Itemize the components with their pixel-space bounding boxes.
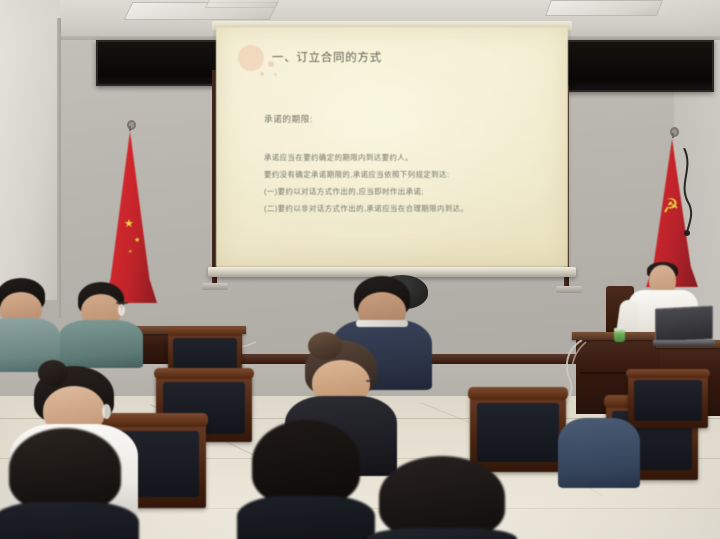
wall-panel-right [556,40,714,92]
hair-bun [308,332,342,360]
flag-star-icon: ★ [134,237,140,244]
face-mask-strap [118,304,125,316]
slide-body: 承诺应当在要约确定的期限内到达要约人。 要约没有确定承诺期限的,承诺应当依照下列… [264,149,549,217]
slide-decor-circle-icon [238,45,264,71]
flag-star-icon: ★ [128,250,132,255]
person-torso [59,320,143,368]
laptop-keyboard [653,340,715,346]
drinking-cup [614,328,625,342]
flag-cloth [103,131,157,303]
slide-body-line: (一)要约以对话方式作出的,应当即时作出承诺; [264,183,549,200]
slide-decor-dot-icon [260,72,264,76]
hanging-cable [676,148,698,236]
audience-member [236,420,376,539]
lecture-room-photo: 一、订立合同的方式 承诺的期限: 承诺应当在要约确定的期限内到达要约人。 要约没… [0,0,720,539]
wall-panel-left [96,40,218,86]
ceiling-light-panel [545,0,663,16]
audience-member [0,428,140,539]
audience-member [0,278,60,370]
flag-hook-right [668,127,677,138]
person-hair [252,420,360,504]
hair-bun [38,360,68,386]
screen-post-foot-right [556,286,582,293]
slide-body-line: 承诺应当在要约确定的期限内到达要约人。 [264,149,549,166]
audience-member [58,282,144,366]
slide-body-line: (二)要约以非对话方式作出的,承诺应当在合理期限内到达。 [264,200,549,217]
person-hair [9,428,121,510]
slide-decor-dot-icon [274,73,277,76]
screen-post-foot-left [202,283,228,290]
person-torso [237,496,375,539]
audience-member [556,398,642,486]
slide-title: 一、订立合同的方式 [272,49,382,65]
person-torso [0,502,139,539]
shirt-collar [356,320,408,327]
face-mask-strap [102,404,111,419]
person-hair [379,456,505,538]
eyeglasses [366,380,382,382]
flag-hook-left [125,120,134,131]
flag-star-icon: ★ [124,219,134,230]
person-torso [367,528,517,539]
slide-body-line: 要约没有确定承诺期限的,承诺应当依照下列规定到达: [264,166,549,183]
ceiling-vent [205,0,281,8]
laptop [653,307,715,345]
audience-member [366,456,518,539]
chinese-national-flag: ★ ★ ★ [103,131,157,303]
eyeglasses [116,302,128,304]
projection-screen: 一、订立合同的方式 承诺的期限: 承诺应当在要约确定的期限内到达要约人。 要约没… [216,27,568,275]
left-wall-corner [57,18,61,318]
slide-subtitle: 承诺的期限: [264,113,313,125]
slide-surface: 一、订立合同的方式 承诺的期限: 承诺应当在要约确定的期限内到达要约人。 要约没… [216,27,568,267]
person-torso [558,418,640,488]
laptop-screen [655,305,713,342]
left-wall [0,0,60,300]
